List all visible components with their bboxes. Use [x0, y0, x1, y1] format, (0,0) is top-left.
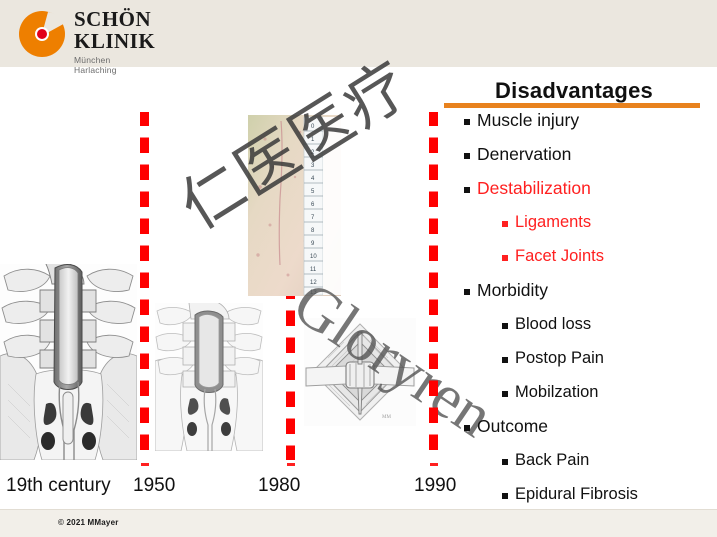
timeline-label-1980: 1980 [258, 475, 300, 497]
figure-clinical-photo-incision-ruler-1980: 012 345 678 91011 1213 [248, 115, 341, 296]
list-item-destabilization: Destabilization [464, 180, 714, 214]
bullet-square-icon [464, 119, 470, 125]
page-title: Disadvantages [444, 78, 704, 104]
timeline-tick-1990 [430, 463, 438, 466]
svg-text:11: 11 [310, 267, 317, 273]
list-item-label: Destabilization [477, 180, 591, 198]
timeline-label-19th-century: 19th century [6, 475, 111, 497]
brand-subtitle: München Harlaching [74, 55, 155, 75]
timeline-label-1950: 1950 [133, 475, 175, 497]
list-item-postop-pain: Postop Pain [502, 350, 714, 384]
list-item-label: Outcome [477, 418, 548, 436]
brand-logo: SCHÖN KLINIK München Harlaching [18, 6, 148, 64]
brand-line-1: SCHÖN [74, 9, 155, 30]
bullet-square-icon [502, 255, 508, 261]
disadvantages-list: Muscle injury Denervation Destabilizatio… [452, 112, 714, 520]
figure-limited-laminectomy-1950 [155, 303, 263, 451]
svg-text:MM: MM [382, 415, 391, 420]
bullet-square-icon [464, 425, 470, 431]
list-item-back-pain: Back Pain [502, 452, 714, 486]
title-underline [444, 103, 700, 108]
bullet-square-icon [502, 493, 508, 499]
svg-text:13: 13 [310, 290, 317, 296]
list-item-label: Denervation [477, 146, 571, 164]
list-item-label: Facet Joints [515, 248, 604, 265]
timeline-divider-1980 [286, 296, 295, 460]
bullet-square-icon [464, 187, 470, 193]
list-item-label: Ligaments [515, 214, 591, 231]
list-item-label: Muscle injury [477, 112, 579, 130]
schoen-klinik-logo-mark [18, 10, 66, 58]
list-item-label: Epidural Fibrosis [515, 486, 638, 503]
svg-text:10: 10 [310, 254, 317, 260]
bullet-square-icon [502, 357, 508, 363]
list-item-muscle-injury: Muscle injury [464, 112, 714, 146]
bullet-square-icon [464, 289, 470, 295]
list-item-ligaments: Ligaments [502, 214, 714, 248]
figure-microsurgical-retractor-1990: MM [304, 318, 416, 426]
copyright-notice: © 2021 MMayer [58, 518, 119, 527]
svg-text:12: 12 [310, 280, 317, 286]
timeline-label-1990: 1990 [414, 475, 456, 497]
list-item-morbidity: Morbidity [464, 282, 714, 316]
list-item-outcome: Outcome [464, 418, 714, 452]
bullet-square-icon [502, 221, 508, 227]
list-item-facet-joints: Facet Joints [502, 248, 714, 282]
list-item-label: Blood loss [515, 316, 591, 333]
timeline-tick-1980 [287, 463, 295, 466]
slide: SCHÖN KLINIK München Harlaching [0, 0, 717, 537]
list-item-mobilzation: Mobilzation [502, 384, 714, 418]
bullet-square-icon [464, 153, 470, 159]
timeline-divider-1990 [429, 112, 438, 460]
list-item-label: Morbidity [477, 282, 548, 300]
list-item-blood-loss: Blood loss [502, 316, 714, 350]
bullet-square-icon [502, 391, 508, 397]
bullet-square-icon [502, 459, 508, 465]
list-item-label: Back Pain [515, 452, 589, 469]
list-item-label: Postop Pain [515, 350, 604, 367]
brand-wordmark: SCHÖN KLINIK München Harlaching [74, 6, 155, 75]
timeline-divider-1950 [140, 112, 149, 460]
slide-header: SCHÖN KLINIK München Harlaching [0, 0, 717, 67]
figure-open-laminectomy-19th-century [0, 264, 137, 460]
list-item-label: Mobilzation [515, 384, 598, 401]
brand-line-2: KLINIK [74, 31, 155, 52]
list-item-denervation: Denervation [464, 146, 714, 180]
timeline-tick-1950 [141, 463, 149, 466]
bullet-square-icon [502, 323, 508, 329]
